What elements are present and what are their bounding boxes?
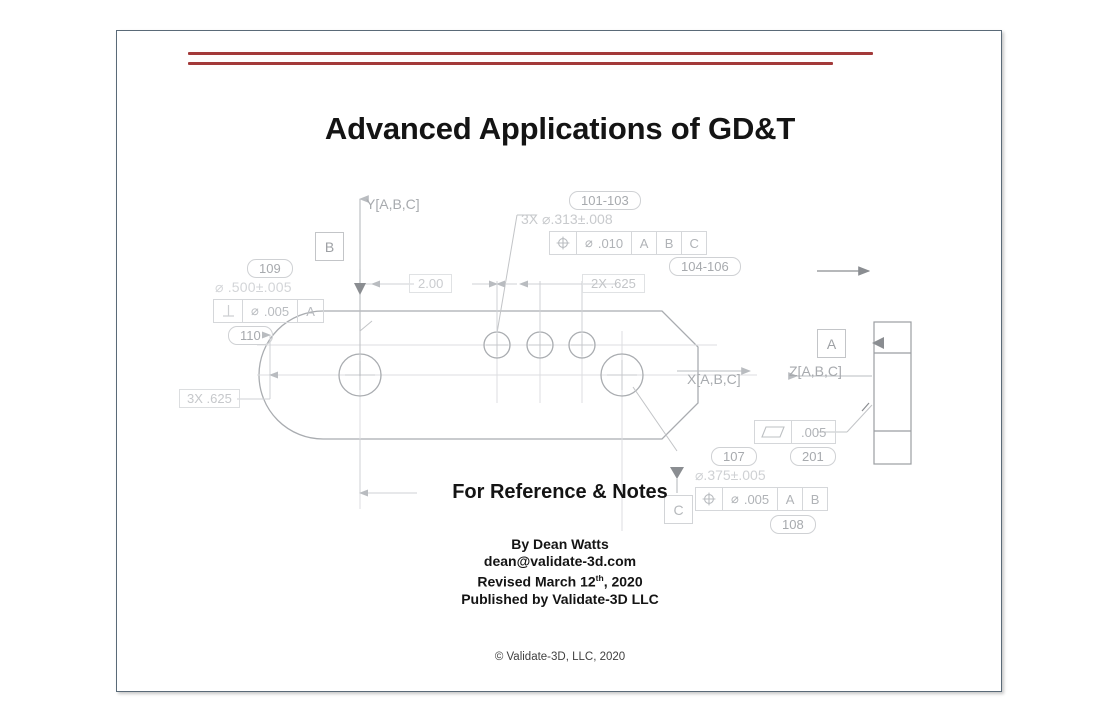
fcf-perpendicularity: ⌀ .005 A <box>213 299 324 323</box>
balloon-108-label: 108 <box>782 517 804 532</box>
fcf-tolerance-value: .005 <box>792 421 835 443</box>
revised-prefix: Revised March 12 <box>477 574 595 590</box>
revised-ordinal: th <box>596 573 604 583</box>
balloon-201-label: 201 <box>802 449 824 464</box>
balloon-107: 107 <box>711 447 757 466</box>
dim-2-00: 2.00 <box>409 274 452 293</box>
fcf-tolerance-value: .010 <box>598 236 623 251</box>
slide-canvas: Advanced Applications of GD&T <box>116 30 1002 692</box>
fcf-tolerance-cell: ⌀ .005 <box>243 300 298 322</box>
perpendicularity-icon <box>214 300 243 322</box>
balloon-101-103: 101-103 <box>569 191 641 210</box>
diameter-icon: ⌀ <box>251 303 259 319</box>
copyright-line: © Validate-3D, LLC, 2020 <box>117 651 1002 663</box>
revised-line: Revised March 12th, 2020 <box>117 570 1002 591</box>
datum-a-box: A <box>817 329 846 358</box>
datum-a-label: A <box>827 336 836 352</box>
balloon-104-106: 104-106 <box>669 257 741 276</box>
author-line: By Dean Watts <box>117 536 1002 553</box>
fcf-tolerance-cell: ⌀ .010 <box>577 232 632 254</box>
axis-label-x: X[A,B,C] <box>687 371 741 387</box>
flatness-icon <box>755 421 792 443</box>
fcf-datum-a: A <box>632 232 657 254</box>
subtitle: For Reference & Notes <box>117 481 1002 504</box>
balloon-110-label: 110 <box>240 328 261 343</box>
note-dia-500: ⌀ .500±.005 <box>215 279 292 296</box>
dim-2x-625: 2X .625 <box>582 274 645 293</box>
email-line: dean@validate-3d.com <box>117 553 1002 570</box>
fcf-tolerance-value: .005 <box>264 304 289 319</box>
balloon-104-106-label: 104-106 <box>681 259 729 274</box>
byline-block: By Dean Watts dean@validate-3d.com Revis… <box>117 536 1002 608</box>
balloon-201: 201 <box>790 447 836 466</box>
axis-label-y: Y[A,B,C] <box>366 196 420 212</box>
dim-2x-625-label: 2X .625 <box>591 276 636 291</box>
diameter-icon: ⌀ <box>585 235 593 251</box>
fcf-datum-c: C <box>682 232 706 254</box>
balloon-107-label: 107 <box>723 449 745 464</box>
fcf-flatness-005: .005 <box>754 420 836 444</box>
balloon-109-label: 109 <box>259 261 281 276</box>
axis-label-z: Z[A,B,C] <box>789 363 842 379</box>
revised-year: , 2020 <box>604 574 643 590</box>
dim-3x-625: 3X .625 <box>179 389 240 408</box>
fcf-datum-a: A <box>298 300 323 322</box>
dim-3x-625-label: 3X .625 <box>187 391 232 406</box>
publisher-line: Published by Validate-3D LLC <box>117 591 1002 608</box>
balloon-109: 109 <box>247 259 293 278</box>
balloon-110: 110 <box>228 326 273 345</box>
fcf-position-010: ⌀ .010 A B C <box>549 231 707 255</box>
fcf-datum-b: B <box>657 232 682 254</box>
balloon-108: 108 <box>770 515 816 534</box>
datum-b-box: B <box>315 232 344 261</box>
note-3x-dia-313: 3X ⌀.313±.008 <box>521 211 613 228</box>
balloon-101-103-label: 101-103 <box>581 193 629 208</box>
position-icon <box>550 232 577 254</box>
datum-b-label: B <box>325 239 334 255</box>
dim-2-00-label: 2.00 <box>418 276 443 291</box>
